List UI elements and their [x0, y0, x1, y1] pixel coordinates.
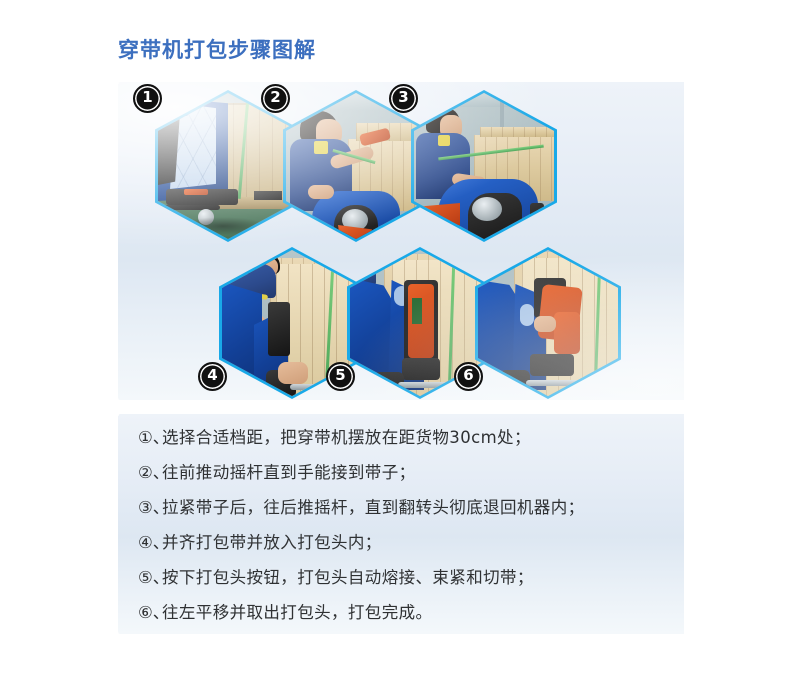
step-text-5: 按下打包头按钮，打包头自动熔接、束紧和切带； — [162, 568, 534, 588]
step-item-1: ①、 选择合适档距，把穿带机摆放在距货物30cm处； — [138, 428, 672, 448]
step-item-5: ⑤、 按下打包头按钮，打包头自动熔接、束紧和切带； — [138, 568, 672, 588]
step-badge-1: 1 — [133, 84, 162, 113]
step-photo-2 — [283, 90, 429, 242]
step-item-6: ⑥、 往左平移并取出打包头，打包完成。 — [138, 603, 672, 623]
step-photo-1-image — [158, 93, 298, 239]
packing-steps-photo-collage: 1 2 3 4 5 6 — [118, 82, 684, 400]
step-photo-2-image — [286, 93, 426, 239]
step-photo-1 — [155, 90, 301, 242]
step-marker-1: ①、 — [138, 428, 162, 448]
step-text-6: 往左平移并取出打包头，打包完成。 — [162, 603, 432, 623]
step-marker-3: ③、 — [138, 498, 162, 518]
step-text-1: 选择合适档距，把穿带机摆放在距货物30cm处； — [162, 428, 531, 448]
step-item-4: ④、 并齐打包带并放入打包头内； — [138, 533, 672, 553]
steps-list: ①、 选择合适档距，把穿带机摆放在距货物30cm处； ②、 往前推动摇杆直到手能… — [138, 428, 672, 634]
step-text-4: 并齐打包带并放入打包头内； — [162, 533, 382, 553]
step-marker-6: ⑥、 — [138, 603, 162, 623]
page-title: 穿带机打包步骤图解 — [118, 34, 688, 64]
step-marker-2: ②、 — [138, 463, 162, 483]
steps-text-panel: ①、 选择合适档距，把穿带机摆放在距货物30cm处； ②、 往前推动摇杆直到手能… — [118, 414, 684, 634]
step-badge-2: 2 — [261, 84, 290, 113]
step-badge-3: 3 — [389, 84, 418, 113]
step-text-3: 拉紧带子后，往后推摇杆，直到翻转头彻底退回机器内； — [162, 498, 585, 518]
step-text-2: 往前推动摇杆直到手能接到带子； — [162, 463, 416, 483]
step-photo-6-image — [478, 250, 618, 396]
step-item-2: ②、 往前推动摇杆直到手能接到带子； — [138, 463, 672, 483]
step-badge-4: 4 — [198, 362, 227, 391]
step-badge-6: 6 — [454, 362, 483, 391]
step-item-3: ③、 拉紧带子后，往后推摇杆，直到翻转头彻底退回机器内； — [138, 498, 672, 518]
page-root: 穿带机打包步骤图解 — [0, 0, 800, 684]
step-marker-4: ④、 — [138, 533, 162, 553]
step-marker-5: ⑤、 — [138, 568, 162, 588]
step-photo-3-image — [414, 93, 554, 239]
step-badge-5: 5 — [326, 362, 355, 391]
step-photo-3 — [411, 90, 557, 242]
step-photo-6 — [475, 247, 621, 399]
